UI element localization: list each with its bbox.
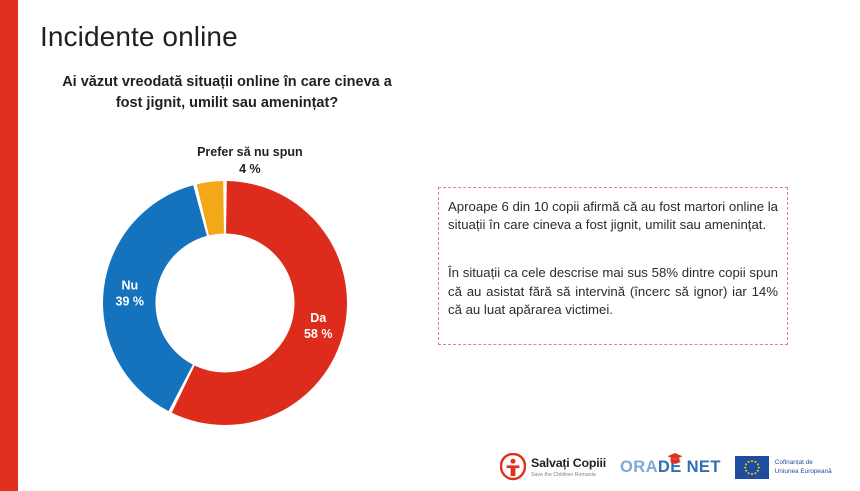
donut-chart: Da 58 % Nu 39 % Prefer să nu spun 4 % <box>60 168 390 443</box>
insight-note-box: Aproape 6 din 10 copii afirmă că au fost… <box>438 187 788 345</box>
eu-cofunding-text: Cofinanțat de Uniunea Europeană <box>775 458 832 476</box>
accent-stripe <box>0 0 18 491</box>
donut-label-da-name: Da <box>310 311 327 325</box>
save-the-children-text: Salvați Copiii Save the Children Romania <box>531 455 606 478</box>
slide: Incidente online Ai văzut vreodată situa… <box>0 0 860 491</box>
eu-cofunding-line2: Uniunea Europeană <box>775 467 832 476</box>
chart-question: Ai văzut vreodată situații online în car… <box>62 72 392 113</box>
note-paragraph-1: Aproape 6 din 10 copii afirmă că au fost… <box>448 198 778 234</box>
footer-logos: Salvați Copiii Save the Children Romania… <box>500 450 845 484</box>
save-the-children-title: Salvați Copiii <box>531 456 606 470</box>
donut-label-prefer-sa-nu-spun-value: 4 % <box>85 162 415 176</box>
graduation-cap-icon <box>667 451 683 470</box>
save-the-children-logo-icon <box>500 453 526 481</box>
save-the-children-logo[interactable]: Salvați Copiii Save the Children Romania <box>500 453 606 481</box>
page-title: Incidente online <box>40 21 238 53</box>
note-paragraph-2: În situații ca cele descrise mai sus 58%… <box>448 264 778 319</box>
ora-de-net-part1: ORA <box>620 458 658 477</box>
eu-cofunding-line1: Cofinanțat de <box>775 458 832 467</box>
donut-chart-svg: Da 58 % Nu 39 % <box>60 168 390 443</box>
ora-de-net-logo[interactable]: ORA DE NET <box>620 458 721 477</box>
eu-cofunding-logo[interactable]: Cofinanțat de Uniunea Europeană <box>735 456 832 479</box>
donut-label-nu-name: Nu <box>121 279 138 293</box>
save-the-children-subtitle: Save the Children Romania <box>531 473 606 478</box>
donut-label-da-value: 58 % <box>304 327 333 341</box>
eu-flag-icon <box>735 456 769 479</box>
donut-label-prefer-sa-nu-spun-name: Prefer să nu spun <box>85 145 415 159</box>
donut-label-nu-value: 39 % <box>116 295 145 309</box>
